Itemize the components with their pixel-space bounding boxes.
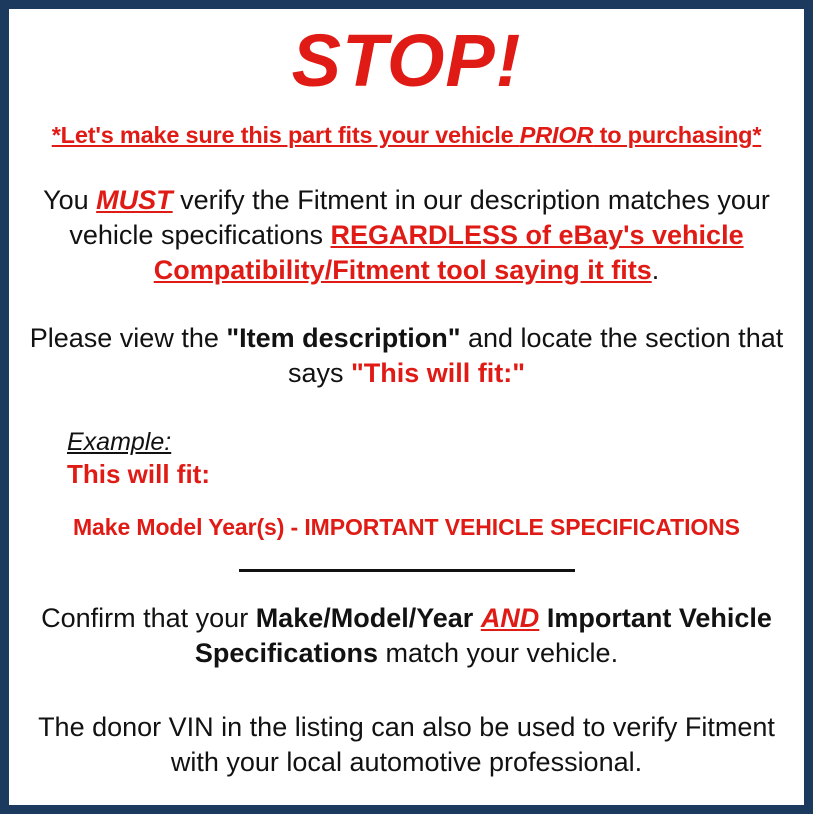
and-emphasis: AND [481,603,540,633]
confirm-text-tail: match your vehicle. [378,638,618,668]
example-fit-heading: This will fit: [67,460,794,490]
paragraph-confirm: Confirm that your Make/Model/Year AND Im… [19,601,794,670]
paragraph-donor-vin: The donor VIN in the listing can also be… [19,710,794,779]
item-description-label: "Item description" [226,323,460,353]
confirm-space-1 [473,603,481,633]
subtitle-banner: *Let's make sure this part fits your veh… [19,122,794,149]
must-emphasis: MUST [96,185,173,215]
paragraph-must-verify: You MUST verify the Fitment in our descr… [19,183,794,287]
view-text-lead: Please view the [30,323,227,353]
paragraph-view-description: Please view the "Item description" and l… [19,321,794,390]
make-model-year-label: Make/Model/Year [256,603,474,633]
example-block: Example: This will fit: Make Model Year(… [19,428,794,540]
confirm-space-2 [539,603,547,633]
must-text-period: . [652,255,660,285]
page-title: STOP! [19,9,794,98]
horizontal-divider [239,569,575,572]
example-label: Example: [67,428,794,457]
subtitle-tail-text: to purchasing* [593,122,761,148]
this-will-fit-quote: "This will fit:" [351,358,525,388]
divider-wrap [19,569,794,573]
subtitle-emphasis-prior: PRIOR [520,122,593,148]
must-text-lead: You [43,185,96,215]
subtitle-lead-text: *Let's make sure this part fits your veh… [52,122,520,148]
example-spec-line: Make Model Year(s) - IMPORTANT VEHICLE S… [67,514,794,540]
notice-inner: STOP! *Let's make sure this part fits yo… [9,9,804,805]
confirm-text-lead: Confirm that your [41,603,256,633]
thank-you-line: Thank you for confirming Fitment! [19,801,794,814]
fitment-notice-card: STOP! *Let's make sure this part fits yo… [0,0,813,814]
